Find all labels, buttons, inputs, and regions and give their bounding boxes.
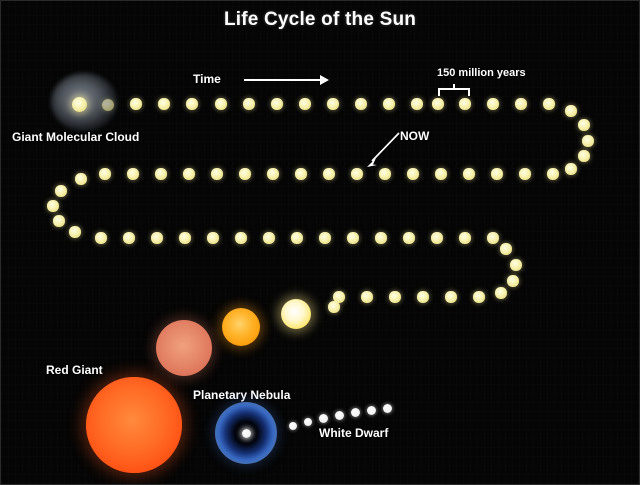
track-dot bbox=[473, 291, 484, 302]
track-dot bbox=[411, 98, 422, 109]
track-dot bbox=[459, 98, 470, 109]
red-giant-label: Red Giant bbox=[46, 363, 103, 377]
track-dot bbox=[361, 291, 372, 302]
protostar-dot-bright bbox=[72, 97, 87, 112]
track-dot bbox=[582, 135, 593, 146]
track-dot bbox=[127, 168, 138, 179]
track-dot bbox=[463, 168, 474, 179]
interval-label: 150 million years bbox=[437, 67, 526, 79]
track-dot bbox=[267, 168, 278, 179]
track-dot bbox=[130, 98, 141, 109]
time-arrow-line bbox=[244, 79, 322, 81]
track-dot bbox=[323, 168, 334, 179]
track-dot bbox=[495, 287, 506, 298]
track-dot bbox=[155, 168, 166, 179]
life-cycle-of-the-sun-diagram: Life Cycle of the Sun Giant Molecular Cl… bbox=[0, 0, 640, 485]
now-arrow-icon bbox=[363, 129, 403, 171]
track-dot bbox=[578, 119, 589, 130]
star-red-giant bbox=[86, 377, 182, 473]
track-dot bbox=[53, 215, 64, 226]
track-dot bbox=[75, 173, 86, 184]
track-dot bbox=[379, 168, 390, 179]
track-dot bbox=[565, 163, 576, 174]
track-dot bbox=[407, 168, 418, 179]
track-dot bbox=[299, 98, 310, 109]
white-dwarf-label: White Dwarf bbox=[319, 426, 388, 440]
track-dot bbox=[99, 168, 110, 179]
track-dot bbox=[491, 168, 502, 179]
track-dot bbox=[183, 168, 194, 179]
track-dot bbox=[435, 168, 446, 179]
track-dot bbox=[235, 232, 246, 243]
white-dwarf-dot bbox=[319, 414, 328, 423]
track-dot bbox=[459, 232, 470, 243]
white-dwarf-dot bbox=[351, 408, 360, 417]
track-dot bbox=[487, 232, 498, 243]
track-dot bbox=[211, 168, 222, 179]
track-dot bbox=[239, 168, 250, 179]
track-dot bbox=[432, 98, 443, 109]
track-dot bbox=[445, 291, 456, 302]
track-dot bbox=[578, 150, 589, 161]
track-dot bbox=[547, 168, 558, 179]
track-dot bbox=[263, 232, 274, 243]
track-dot bbox=[158, 98, 169, 109]
track-dot bbox=[431, 232, 442, 243]
track-dot bbox=[347, 232, 358, 243]
track-dot bbox=[123, 232, 134, 243]
white-dwarf-dot bbox=[289, 422, 297, 430]
now-label: NOW bbox=[400, 129, 429, 143]
track-dot bbox=[487, 98, 498, 109]
track-dot bbox=[543, 98, 554, 109]
track-dot bbox=[519, 168, 530, 179]
time-arrow-head bbox=[320, 75, 329, 85]
track-dot bbox=[295, 168, 306, 179]
track-dot bbox=[179, 232, 190, 243]
track-dot bbox=[215, 98, 226, 109]
track-dot bbox=[510, 259, 521, 270]
planetary-nebula-label: Planetary Nebula bbox=[193, 388, 290, 402]
track-dot bbox=[375, 232, 386, 243]
track-dot bbox=[389, 291, 400, 302]
track-dot bbox=[328, 301, 339, 312]
track-dot bbox=[355, 98, 366, 109]
track-dot bbox=[417, 291, 428, 302]
track-dot bbox=[55, 185, 66, 196]
protostar-dot-dim bbox=[102, 99, 114, 111]
track-dot bbox=[383, 98, 394, 109]
planetary-nebula-core bbox=[242, 429, 251, 438]
track-dot bbox=[95, 232, 106, 243]
interval-bracket bbox=[438, 84, 470, 95]
track-dot bbox=[271, 98, 282, 109]
white-dwarf-dot bbox=[367, 406, 376, 415]
white-dwarf-dot bbox=[335, 411, 344, 420]
giant-molecular-cloud-label: Giant Molecular Cloud bbox=[12, 130, 139, 144]
page-title: Life Cycle of the Sun bbox=[1, 9, 639, 31]
white-dwarf-dot bbox=[383, 404, 392, 413]
track-dot bbox=[47, 200, 58, 211]
track-dot bbox=[565, 105, 576, 116]
track-dot bbox=[500, 243, 511, 254]
star-bright-yellow-star bbox=[281, 299, 311, 329]
star-subgiant bbox=[156, 320, 212, 376]
track-dot bbox=[327, 98, 338, 109]
track-dot bbox=[507, 275, 518, 286]
track-dot bbox=[207, 232, 218, 243]
white-dwarf-dot bbox=[304, 418, 312, 426]
track-dot bbox=[291, 232, 302, 243]
track-dot bbox=[243, 98, 254, 109]
track-dot bbox=[69, 226, 80, 237]
time-label: Time bbox=[193, 72, 221, 86]
track-dot bbox=[351, 168, 362, 179]
star-orange-star bbox=[222, 308, 260, 346]
track-dot bbox=[151, 232, 162, 243]
track-dot bbox=[186, 98, 197, 109]
track-dot bbox=[515, 98, 526, 109]
track-dot bbox=[403, 232, 414, 243]
track-dot bbox=[319, 232, 330, 243]
